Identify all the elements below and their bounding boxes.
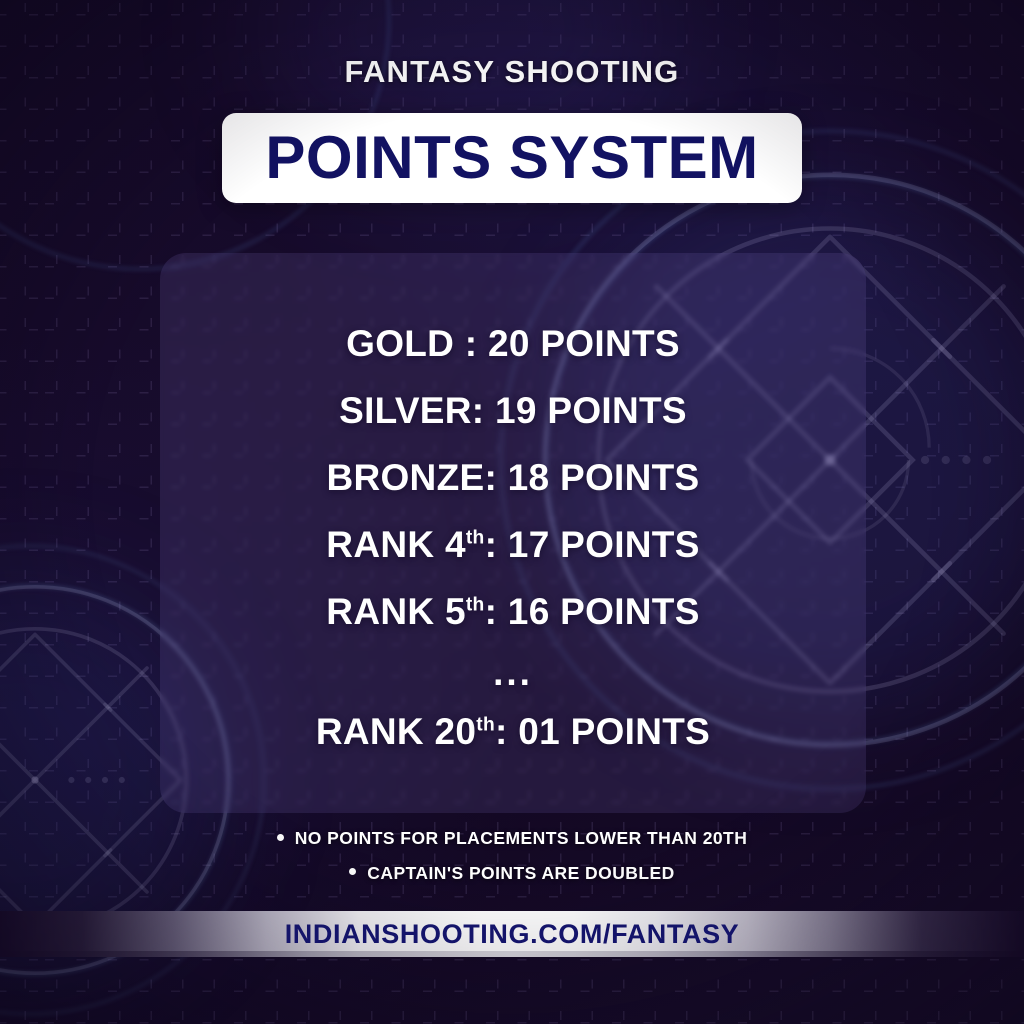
points-row-rank-20: RANK 20th: 01 POINTS bbox=[316, 713, 710, 750]
points-row-ellipsis: ... bbox=[493, 654, 533, 691]
note-item-no-points: NO POINTS FOR PLACEMENTS LOWER THAN 20TH bbox=[0, 830, 1024, 848]
points-row-rank-20-prefix: RANK 20 bbox=[316, 711, 476, 752]
notes-list: NO POINTS FOR PLACEMENTS LOWER THAN 20TH… bbox=[0, 830, 1024, 899]
bullet-dot-icon bbox=[277, 834, 284, 841]
kicker-title: FANTASY SHOOTING bbox=[0, 54, 1024, 90]
page-title: POINTS SYSTEM bbox=[265, 128, 758, 188]
points-row-rank-4-prefix: RANK 4 bbox=[326, 524, 466, 565]
bullet-dot-icon bbox=[349, 868, 356, 875]
points-row-bronze: BRONZE: 18 POINTS bbox=[326, 459, 699, 496]
points-row-rank-20-ordinal: th bbox=[476, 715, 495, 736]
points-row-rank-5-suffix: : 16 POINTS bbox=[485, 591, 700, 632]
note-item-captain: CAPTAIN'S POINTS ARE DOUBLED bbox=[0, 865, 1024, 883]
points-row-rank-20-suffix: : 01 POINTS bbox=[495, 711, 710, 752]
points-row-rank-5: RANK 5th: 16 POINTS bbox=[326, 593, 699, 630]
points-row-rank-5-prefix: RANK 5 bbox=[326, 591, 466, 632]
poster-canvas: FANTASY SHOOTING POINTS SYSTEM GOLD : 20… bbox=[0, 0, 1024, 1024]
points-row-rank-4: RANK 4th: 17 POINTS bbox=[326, 526, 699, 563]
points-panel: GOLD : 20 POINTS SILVER: 19 POINTS BRONZ… bbox=[160, 253, 866, 813]
note-text-captain: CAPTAIN'S POINTS ARE DOUBLED bbox=[367, 863, 674, 883]
points-row-rank-4-suffix: : 17 POINTS bbox=[485, 524, 700, 565]
footer-url-bar: INDIANSHOOTING.COM/FANTASY bbox=[0, 911, 1024, 957]
points-row-rank-5-ordinal: th bbox=[466, 595, 485, 616]
points-row-rank-4-ordinal: th bbox=[466, 528, 485, 549]
title-plate: POINTS SYSTEM bbox=[222, 113, 802, 203]
points-row-silver: SILVER: 19 POINTS bbox=[339, 392, 687, 429]
points-row-gold: GOLD : 20 POINTS bbox=[346, 325, 680, 362]
points-list: GOLD : 20 POINTS SILVER: 19 POINTS BRONZ… bbox=[160, 253, 866, 813]
footer-url-text: INDIANSHOOTING.COM/FANTASY bbox=[285, 919, 740, 950]
note-text-no-points: NO POINTS FOR PLACEMENTS LOWER THAN 20TH bbox=[295, 828, 748, 848]
